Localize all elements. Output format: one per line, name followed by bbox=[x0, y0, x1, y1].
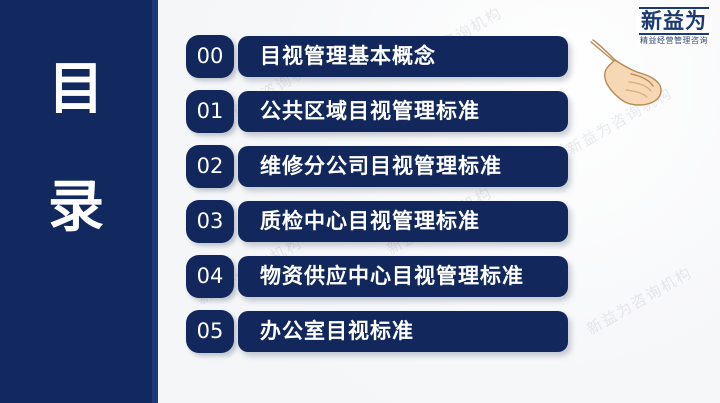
list-item[interactable]: 03 质检中心目视管理标准 bbox=[186, 199, 706, 243]
toc-label: 维修分公司目视管理标准 bbox=[238, 156, 520, 177]
list-item[interactable]: 04 物资供应中心目视管理标准 bbox=[186, 254, 706, 298]
toc-number-badge: 02 bbox=[186, 145, 234, 188]
toc-number: 02 bbox=[197, 156, 224, 177]
list-item[interactable]: 05 办公室目视标准 bbox=[186, 309, 706, 353]
toc-bar[interactable]: 质检中心目视管理标准 bbox=[238, 201, 568, 242]
logo-tagline: 精益经营管理咨询 bbox=[639, 36, 709, 46]
toc-label: 质检中心目视管理标准 bbox=[238, 211, 498, 232]
list-item[interactable]: 02 维修分公司目视管理标准 bbox=[186, 144, 706, 188]
toc-number-badge: 04 bbox=[186, 255, 234, 298]
toc-number: 05 bbox=[197, 321, 224, 342]
toc-bar[interactable]: 维修分公司目视管理标准 bbox=[238, 146, 568, 187]
toc-number-badge: 00 bbox=[186, 35, 234, 78]
sidebar-accent-line bbox=[152, 0, 158, 403]
toc-number: 04 bbox=[197, 266, 224, 287]
page-title-char-2: 录 bbox=[0, 180, 152, 236]
toc-label: 目视管理基本概念 bbox=[238, 46, 454, 67]
toc-number-badge: 05 bbox=[186, 310, 234, 353]
toc-label: 物资供应中心目视管理标准 bbox=[238, 266, 542, 287]
sidebar-panel: 目 录 bbox=[0, 0, 152, 403]
toc-number-badge: 01 bbox=[186, 90, 234, 133]
toc-bar[interactable]: 目视管理基本概念 bbox=[238, 36, 568, 77]
list-item[interactable]: 00 目视管理基本概念 bbox=[186, 34, 706, 78]
toc-number-badge: 03 bbox=[186, 200, 234, 243]
list-item[interactable]: 01 公共区域目视管理标准 bbox=[186, 89, 706, 133]
table-of-contents: 00 目视管理基本概念 01 公共区域目视管理标准 02 维修分公司目视管理标准 bbox=[186, 34, 706, 364]
page-title-char-1: 目 bbox=[0, 62, 152, 118]
toc-bar[interactable]: 办公室目视标准 bbox=[238, 311, 568, 352]
brand-logo: 新益为 精益经营管理咨询 bbox=[636, 6, 712, 48]
toc-number: 01 bbox=[197, 101, 224, 122]
toc-number: 03 bbox=[197, 211, 224, 232]
presentation-slide: 新益为咨询机构 新益为咨询机构 新益为咨询机构 新益为咨询机构 新益为咨询机构 … bbox=[0, 0, 720, 403]
toc-number: 00 bbox=[197, 46, 224, 67]
toc-label: 公共区域目视管理标准 bbox=[238, 101, 498, 122]
logo-name: 新益为 bbox=[639, 7, 709, 35]
toc-label: 办公室目视标准 bbox=[238, 321, 432, 342]
toc-bar[interactable]: 公共区域目视管理标准 bbox=[238, 91, 568, 132]
toc-bar[interactable]: 物资供应中心目视管理标准 bbox=[238, 256, 568, 297]
